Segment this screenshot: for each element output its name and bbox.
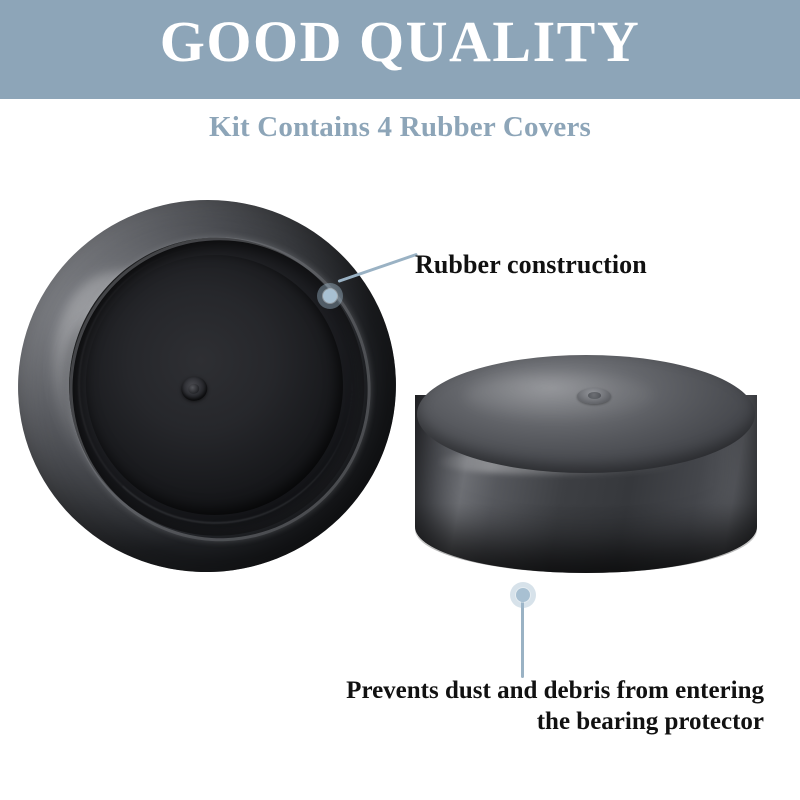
cap-center-nub-dot bbox=[588, 392, 600, 399]
page-title: GOOD QUALITY bbox=[0, 13, 800, 71]
cover-inner-nub-core bbox=[188, 383, 200, 394]
callout-marker-rubber-construction[interactable] bbox=[317, 283, 343, 309]
cap-bottom-shading bbox=[415, 503, 757, 573]
page-subtitle: Kit Contains 4 Rubber Covers bbox=[0, 111, 800, 144]
product-image-stage bbox=[0, 160, 800, 660]
callout-label-rubber-construction: Rubber construction bbox=[415, 250, 647, 280]
callout-label-prevents-dust-line1: Prevents dust and debris from entering bbox=[0, 676, 764, 707]
callout-label-prevents-dust: Prevents dust and debris from entering t… bbox=[0, 676, 800, 737]
cap-top-highlight bbox=[464, 372, 653, 419]
header-banner: GOOD QUALITY bbox=[0, 0, 800, 99]
callout-leader-line-prevents-dust bbox=[521, 600, 524, 678]
product-feature-image: GOOD QUALITY Kit Contains 4 Rubber Cover… bbox=[0, 0, 800, 800]
cap-dome-top bbox=[417, 355, 755, 473]
callout-label-prevents-dust-line2: the bearing protector bbox=[0, 707, 764, 738]
open-rubber-cover bbox=[0, 176, 420, 597]
callout-marker-prevents-dust[interactable] bbox=[510, 582, 536, 608]
closed-rubber-cover bbox=[415, 355, 757, 610]
